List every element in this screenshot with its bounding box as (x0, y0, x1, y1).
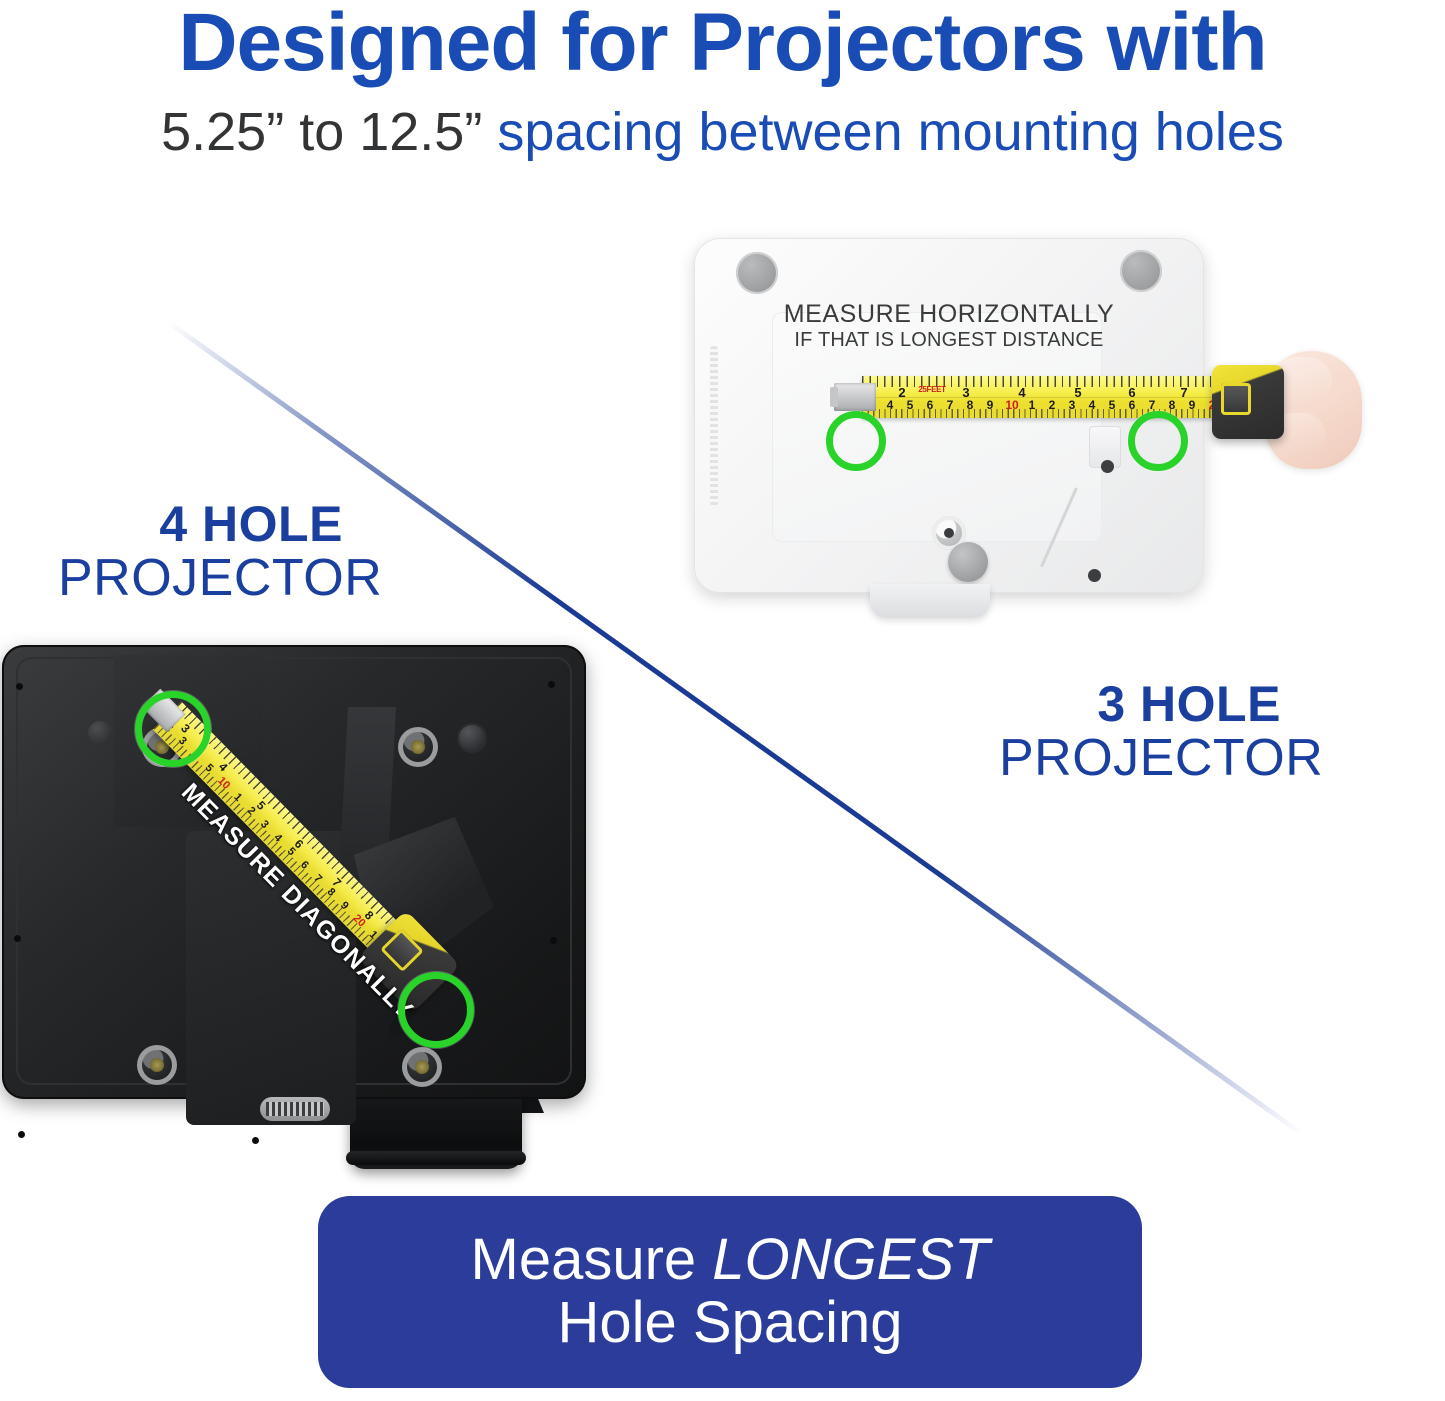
label-3-hole-projector: 3 HOLE PROJECTOR (1055, 678, 1323, 785)
tape-measure-horizontal: 2 3 4 5 6 7 25FEET 3 4 5 6 7 8 9 10 1 2 … (834, 373, 1254, 420)
edge-screw (252, 1137, 259, 1144)
black-projector-lens (350, 1087, 522, 1169)
tape-num: 4 (271, 832, 284, 845)
label-4-hole-subtitle: PROJECTOR (58, 551, 382, 606)
banner-line1-prefix: Measure (471, 1227, 713, 1292)
tape-num: 8 (1169, 398, 1176, 412)
banner-line-1: Measure LONGEST (471, 1228, 990, 1292)
tape-num: 2 (245, 805, 258, 818)
edge-screw (18, 1131, 25, 1138)
hole-highlight-ring-upper (135, 691, 211, 767)
tape-num: 2 (1049, 398, 1056, 412)
white-projector-lens (870, 584, 990, 618)
tape-num: 8 (967, 398, 974, 412)
edge-screw (14, 935, 21, 942)
banner-line1-emphasis: LONGEST (712, 1227, 989, 1292)
tape-num: 6 (1129, 398, 1136, 412)
edge-screw (16, 683, 23, 690)
projector-foot-left (736, 252, 778, 294)
tape-num: 5 (203, 762, 216, 775)
page-subtitle-rest: spacing between mounting holes (482, 102, 1284, 162)
tape-numbers-bottom: 3 4 5 6 7 8 9 10 1 2 3 4 5 6 7 8 9 2 (862, 398, 1218, 412)
tape-num: 9 (987, 398, 994, 412)
black-projector-button (88, 721, 112, 745)
label-4-hole-title: 4 HOLE (120, 498, 382, 551)
tape-num: 7 (311, 872, 324, 885)
focus-knob (948, 542, 988, 582)
tape-num: 4 (887, 398, 894, 412)
white-projector-illustration: 2 3 4 5 6 7 25FEET 3 4 5 6 7 8 9 10 1 2 … (694, 238, 1204, 623)
label-3-hole-title: 3 HOLE (1055, 678, 1323, 731)
edge-screw (550, 937, 557, 944)
edge-screw (548, 681, 555, 688)
mounting-hole-bottom-left (137, 1045, 177, 1085)
tape-num: 5 (1109, 398, 1116, 412)
tape-num: 6 (298, 859, 311, 872)
tape-measure-case (1212, 365, 1284, 439)
tape-num: 9 (338, 899, 351, 912)
black-projector-sensor (457, 723, 487, 753)
hole-spacing-range: 5.25” to 12.5” (161, 102, 482, 162)
screw-dot-lower (1088, 569, 1101, 582)
tape-num: 7 (1149, 398, 1156, 412)
tape-num: 8 (325, 886, 338, 899)
tape-num: 5 (285, 845, 298, 858)
banner-line-2: Hole Spacing (558, 1291, 903, 1356)
projector-foot-right (1120, 250, 1162, 292)
tape-num-red: 10 (1005, 398, 1018, 412)
tape-num: 1 (1029, 398, 1036, 412)
tape-num: 4 (1089, 398, 1096, 412)
screw-dot-upper (1101, 460, 1114, 473)
tape-num: 7 (947, 398, 954, 412)
vent-grille (710, 346, 718, 506)
tape-hook (834, 383, 876, 411)
label-3-hole-subtitle: PROJECTOR (999, 731, 1323, 786)
label-4-hole-projector: 4 HOLE PROJECTOR (120, 498, 382, 605)
hole-highlight-ring-right (1128, 411, 1188, 471)
hole-highlight-ring-lower (398, 972, 474, 1048)
hole-highlight-ring-left (826, 411, 886, 471)
white-projector-inner-panel (772, 312, 1102, 542)
tape-num: 3 (1069, 398, 1076, 412)
tape-num: 5 (907, 398, 914, 412)
tape-num: 3 (258, 818, 271, 831)
page-subtitle: 5.25” to 12.5” spacing between mounting … (0, 104, 1445, 161)
mounting-hole-top-right (398, 727, 438, 767)
black-projector-vent (260, 1097, 330, 1121)
tape-num: 6 (927, 398, 934, 412)
tape-num: 9 (1189, 398, 1196, 412)
tape-numbers-top: 2 3 4 5 6 7 25FEET (862, 385, 1218, 399)
bottom-callout-banner: Measure LONGEST Hole Spacing (318, 1196, 1142, 1388)
page-title: Designed for Projectors with (0, 2, 1445, 84)
tape-num: 1 (231, 791, 244, 804)
tape-red-marking: 25FEET (918, 385, 946, 394)
mounting-hole-bottom-right (402, 1047, 442, 1087)
